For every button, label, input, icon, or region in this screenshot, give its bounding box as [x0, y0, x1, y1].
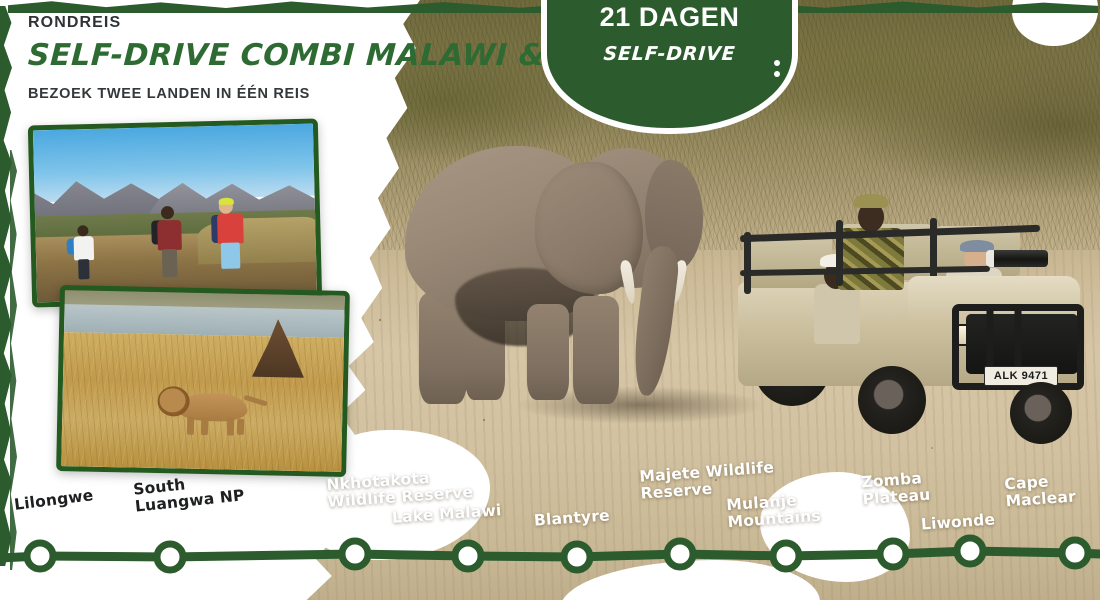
page-title: SELF-DRIVE COMBI MALAWI & ZAMBIA [27, 38, 549, 73]
timeline-node[interactable] [27, 543, 53, 569]
elephant-illustration [395, 118, 715, 448]
kicker-label: RONDREIS [28, 14, 548, 32]
timeline-node[interactable] [773, 543, 799, 569]
safari-vehicle-illustration: ALK 9471 [730, 190, 1100, 450]
inset-photo-lion [56, 285, 350, 477]
inset-photo-hiking [28, 118, 322, 307]
badge-dots-decoration [774, 60, 780, 77]
timeline-stop-label: Mulanje Mountains [726, 491, 822, 532]
camera-lens [986, 250, 1048, 267]
timeline-node[interactable] [880, 541, 906, 567]
subtitle-label: BEZOEK TWEE LANDEN IN ÉÉN REIS [28, 86, 548, 102]
lion-figure [157, 384, 266, 438]
travel-banner: ALK 9471 RONDREIS SELF-DRIVE COMBI MALAW… [0, 0, 1100, 600]
timeline-node[interactable] [157, 544, 183, 570]
badge-days-label: 21 DAGEN [547, 2, 792, 33]
timeline-node[interactable] [1062, 540, 1088, 566]
header-block: RONDREIS SELF-DRIVE COMBI MALAWI & ZAMBI… [28, 14, 548, 102]
timeline-stop-label: Cape Maclear [1004, 472, 1077, 512]
timeline-node[interactable] [957, 538, 983, 564]
badge-type-label: SELF-DRIVE [546, 43, 793, 65]
timeline-stop-label: Zomba Plateau [861, 470, 931, 509]
timeline-node[interactable] [564, 544, 590, 570]
route-timeline: LilongweSouth Luangwa NPNkhotakota Wildl… [0, 468, 1100, 600]
timeline-node[interactable] [342, 541, 368, 567]
timeline-node[interactable] [667, 541, 693, 567]
timeline-node[interactable] [455, 543, 481, 569]
